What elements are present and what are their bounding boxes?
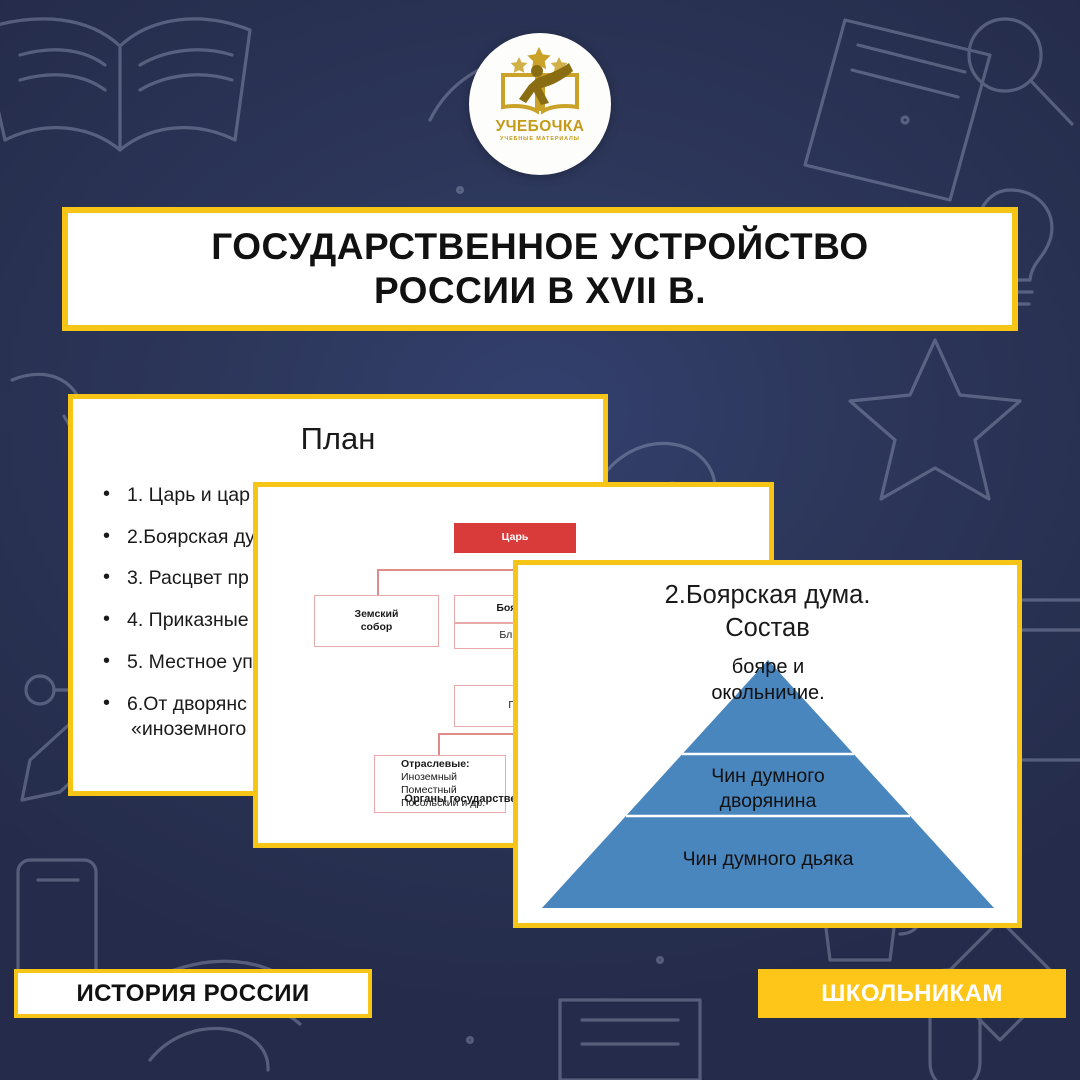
chart-node-zemsky-sobor: Земский собор: [314, 595, 439, 647]
plan-item-text: 3. Расцвет пр: [127, 567, 249, 589]
pyramid-level-1-label: бояре и окольничие.: [542, 655, 994, 706]
star-book-person-icon: [481, 45, 599, 123]
duma-heading-line2: Состав: [725, 614, 809, 642]
brand-logo: УЧЕБОЧКА УЧЕБНЫЕ МАТЕРИАЛЫ: [469, 33, 611, 175]
page-title: ГОСУДАРСТВЕННОЕ УСТРОЙСТВО РОССИИ В XVII…: [62, 207, 1018, 331]
page-title-line2: РОССИИ В XVII В.: [374, 270, 706, 311]
pyramid-level-2-line1: Чин думного: [711, 765, 825, 787]
badge-history-of-russia[interactable]: ИСТОРИЯ РОССИИ: [14, 969, 372, 1018]
plan-item-text: 5. Местное уп: [127, 651, 253, 673]
plan-heading: План: [73, 421, 603, 457]
pyramid-diagram: бояре и окольничие. Чин думного дворянин…: [542, 660, 994, 908]
logo-name: УЧЕБОЧКА: [481, 118, 599, 136]
page-title-line1: ГОСУДАРСТВЕННОЕ УСТРОЙСТВО: [211, 226, 868, 267]
pyramid-level-2-label: Чин думного дворянина: [542, 764, 994, 815]
branch-item: Иноземный: [401, 771, 457, 784]
pyramid-level-1-line2: окольничие.: [711, 682, 824, 704]
branch-head: Отраслевые:: [401, 758, 470, 771]
chart-node-zemsky-line1: Земский: [355, 608, 399, 621]
logo-tagline: УЧЕБНЫЕ МАТЕРИАЛЫ: [481, 136, 599, 142]
pyramid-level-2-line2: дворянина: [720, 790, 817, 812]
plan-item-text: 4. Приказные: [127, 609, 249, 631]
plan-item-text: 6.От дворянс: [127, 693, 247, 715]
chart-node-zemsky-line2: собор: [361, 621, 393, 634]
chart-node-tsar: Царь: [454, 523, 576, 553]
plan-item-text: 1. Царь и цар: [127, 484, 250, 506]
connector-line: [377, 569, 379, 595]
connector-line: [438, 733, 440, 755]
duma-heading-line1: 2.Боярская дума.: [665, 581, 871, 609]
plan-item-text: 2.Боярская ду: [127, 526, 255, 548]
duma-heading: 2.Боярская дума. Состав: [518, 579, 1017, 644]
poster-canvas: УЧЕБОЧКА УЧЕБНЫЕ МАТЕРИАЛЫ ГОСУДАРСТВЕНН…: [0, 0, 1080, 1080]
pyramid-level-1-line1: бояре и: [732, 656, 804, 678]
pyramid-level-3-label: Чин думного дьяка: [542, 848, 994, 871]
badge-for-schoolchildren[interactable]: ШКОЛЬНИКАМ: [758, 969, 1066, 1018]
slide-card-boyar-duma[interactable]: 2.Боярская дума. Состав бояре и окольнич…: [513, 560, 1022, 928]
